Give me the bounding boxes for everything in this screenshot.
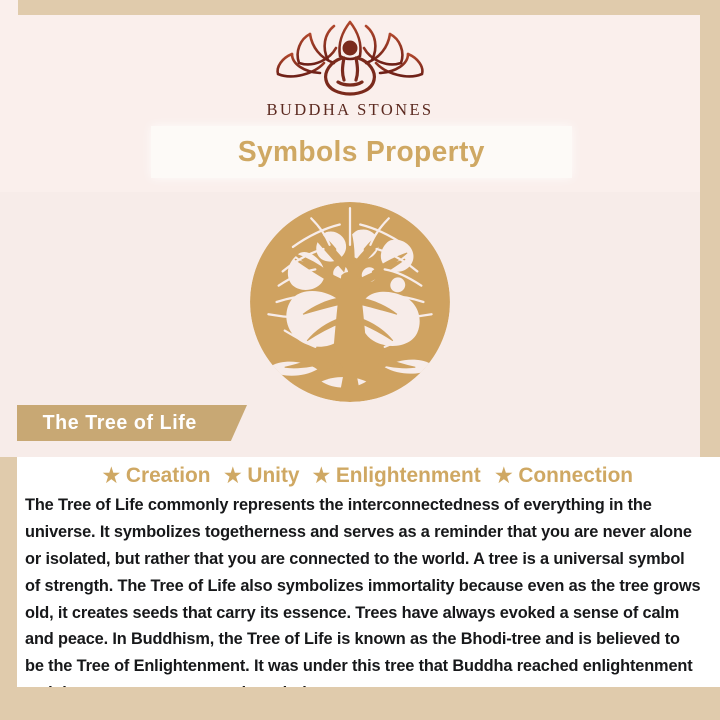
keyword-label: Enlightenment bbox=[336, 463, 481, 488]
right-border-notch bbox=[700, 15, 720, 512]
tree-of-life-image bbox=[0, 192, 700, 416]
keyword-list: ★ Creation ★ Unity ★ Enlightenment ★ Con… bbox=[17, 457, 720, 488]
bottom-border-bar bbox=[0, 687, 720, 720]
star-icon: ★ bbox=[103, 466, 120, 486]
tree-of-life-circle-icon bbox=[248, 200, 452, 409]
page-title: Symbols Property bbox=[238, 136, 485, 169]
keyword-label: Unity bbox=[247, 463, 299, 488]
section-ribbon: The Tree of Life bbox=[17, 405, 247, 441]
keyword-item-unity: ★ Unity bbox=[224, 463, 299, 488]
infographic-page: BUDDHA STONES Symbols Property bbox=[0, 0, 720, 720]
page-title-banner: Symbols Property bbox=[151, 126, 572, 178]
keyword-label: Connection bbox=[519, 463, 634, 488]
star-icon: ★ bbox=[313, 466, 330, 486]
brand-logo: BUDDHA STONES bbox=[0, 18, 700, 123]
brand-name: BUDDHA STONES bbox=[266, 100, 433, 120]
top-border bbox=[0, 0, 720, 15]
keyword-item-enlightenment: ★ Enlightenment bbox=[313, 463, 481, 488]
section-ribbon-label: The Tree of Life bbox=[43, 412, 197, 435]
body-paragraph: The Tree of Life commonly represents the… bbox=[25, 492, 702, 707]
keyword-item-creation: ★ Creation bbox=[103, 463, 211, 488]
keyword-item-connection: ★ Connection bbox=[496, 463, 634, 488]
star-icon: ★ bbox=[496, 466, 513, 486]
content-panel: ★ Creation ★ Unity ★ Enlightenment ★ Con… bbox=[17, 457, 720, 687]
keyword-label: Creation bbox=[126, 463, 211, 488]
star-icon: ★ bbox=[224, 466, 241, 486]
lotus-meditation-icon bbox=[262, 18, 438, 96]
